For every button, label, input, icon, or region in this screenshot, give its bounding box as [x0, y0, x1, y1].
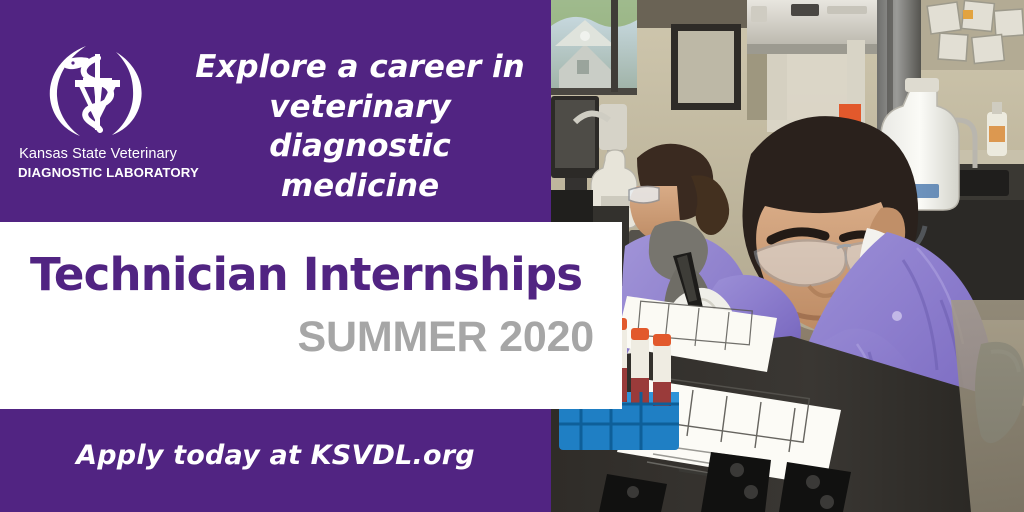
headline-line-3: medicine	[185, 167, 535, 207]
banner-title: Technician Internships	[30, 252, 582, 297]
headline: Explore a career in veterinary diagnosti…	[185, 48, 535, 207]
title-banner: Technician Internships SUMMER 2020	[0, 222, 622, 409]
ksvdl-logo: Kansas State Veterinary DIAGNOSTIC LABOR…	[18, 40, 178, 181]
logo-line-secondary: DIAGNOSTIC LABORATORY	[18, 165, 178, 181]
promotional-poster: Kansas State Veterinary DIAGNOSTIC LABOR…	[0, 0, 1024, 512]
banner-subtitle: SUMMER 2020	[297, 316, 594, 359]
headline-line-2: veterinary diagnostic	[185, 88, 535, 167]
logo-line-primary: Kansas State Veterinary	[18, 146, 178, 163]
headline-line-1: Explore a career in	[185, 48, 535, 88]
ksvdl-caduceus-logo	[42, 40, 154, 140]
call-to-action[interactable]: Apply today at KSVDL.org	[0, 440, 551, 471]
